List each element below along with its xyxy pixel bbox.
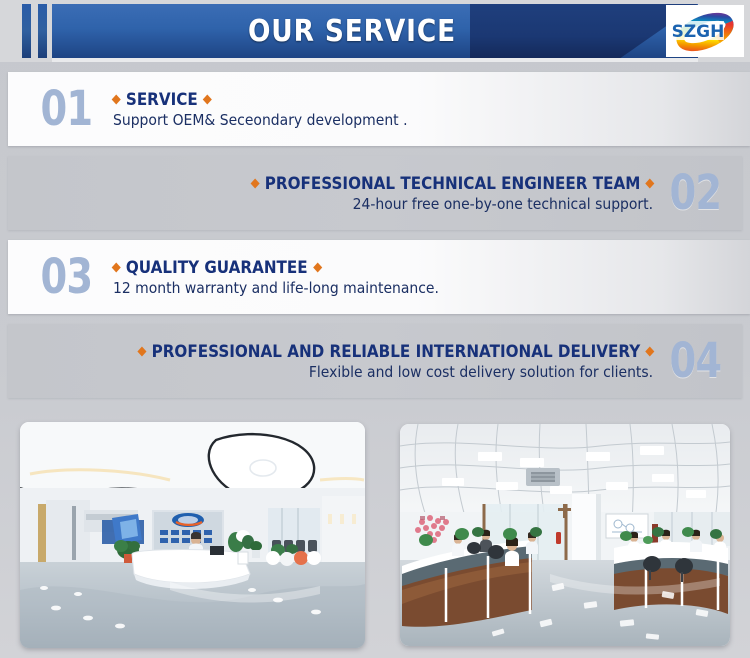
header-accent-bar-2 [38, 4, 47, 58]
service-number: 01 [40, 85, 92, 133]
service-description: 12 month warranty and life-long maintena… [113, 279, 439, 297]
diamond-bullet-icon [645, 346, 654, 356]
service-item-04: PROFESSIONAL AND RELIABLE INTERNATIONAL … [8, 324, 742, 398]
office-workspace-photo [400, 424, 730, 646]
service-text-block: QUALITY GUARANTEE 12 month warranty and … [113, 258, 750, 297]
service-item-02: PROFESSIONAL TECHNICAL ENGINEER TEAM 24-… [8, 156, 742, 230]
szgh-logo-text: SZGH [672, 22, 725, 42]
service-text-block: SERVICE Support OEM& Seceondary developm… [113, 90, 750, 129]
header: OUR SERVICE [0, 0, 750, 62]
header-accent-bar-1 [22, 4, 31, 58]
office-workspace-illustration [400, 424, 730, 646]
service-heading-label: SERVICE [126, 90, 198, 109]
photo-gallery [0, 412, 750, 658]
service-heading-label: PROFESSIONAL TECHNICAL ENGINEER TEAM [265, 174, 641, 193]
diamond-bullet-icon [251, 178, 260, 188]
diamond-bullet-icon [111, 94, 120, 104]
service-description: 24-hour free one-by-one technical suppor… [353, 195, 653, 213]
diamond-bullet-icon [138, 346, 147, 356]
diamond-bullet-icon [111, 262, 120, 272]
service-description: Support OEM& Seceondary development . [113, 111, 408, 129]
service-item-01: 01 SERVICE Support OEM& Seceondary devel… [8, 72, 750, 146]
service-text-block: PROFESSIONAL TECHNICAL ENGINEER TEAM 24-… [8, 174, 653, 213]
office-reception-illustration [20, 422, 365, 648]
service-heading: PROFESSIONAL AND RELIABLE INTERNATIONAL … [139, 342, 653, 361]
service-description: Flexible and low cost delivery solution … [309, 363, 653, 381]
page-title: OUR SERVICE [88, 4, 616, 58]
header-underline [52, 58, 698, 62]
diamond-bullet-icon [645, 178, 654, 188]
diamond-bullet-icon [203, 94, 212, 104]
service-heading-label: PROFESSIONAL AND RELIABLE INTERNATIONAL … [152, 342, 641, 361]
service-heading: SERVICE [113, 90, 211, 109]
szgh-logo: SZGH [666, 5, 744, 57]
office-reception-photo [20, 422, 365, 648]
service-number: 02 [670, 169, 722, 217]
service-number: 03 [40, 253, 92, 301]
service-text-block: PROFESSIONAL AND RELIABLE INTERNATIONAL … [8, 342, 653, 381]
service-item-03: 03 QUALITY GUARANTEE 12 month warranty a… [8, 240, 750, 314]
szgh-logo-icon: SZGH [668, 8, 742, 54]
service-heading: QUALITY GUARANTEE [113, 258, 321, 277]
diamond-bullet-icon [313, 262, 322, 272]
our-service-banner: OUR SERVICE [0, 0, 750, 658]
service-number: 04 [670, 337, 722, 385]
service-heading-label: QUALITY GUARANTEE [126, 258, 308, 277]
service-heading: PROFESSIONAL TECHNICAL ENGINEER TEAM [252, 174, 653, 193]
